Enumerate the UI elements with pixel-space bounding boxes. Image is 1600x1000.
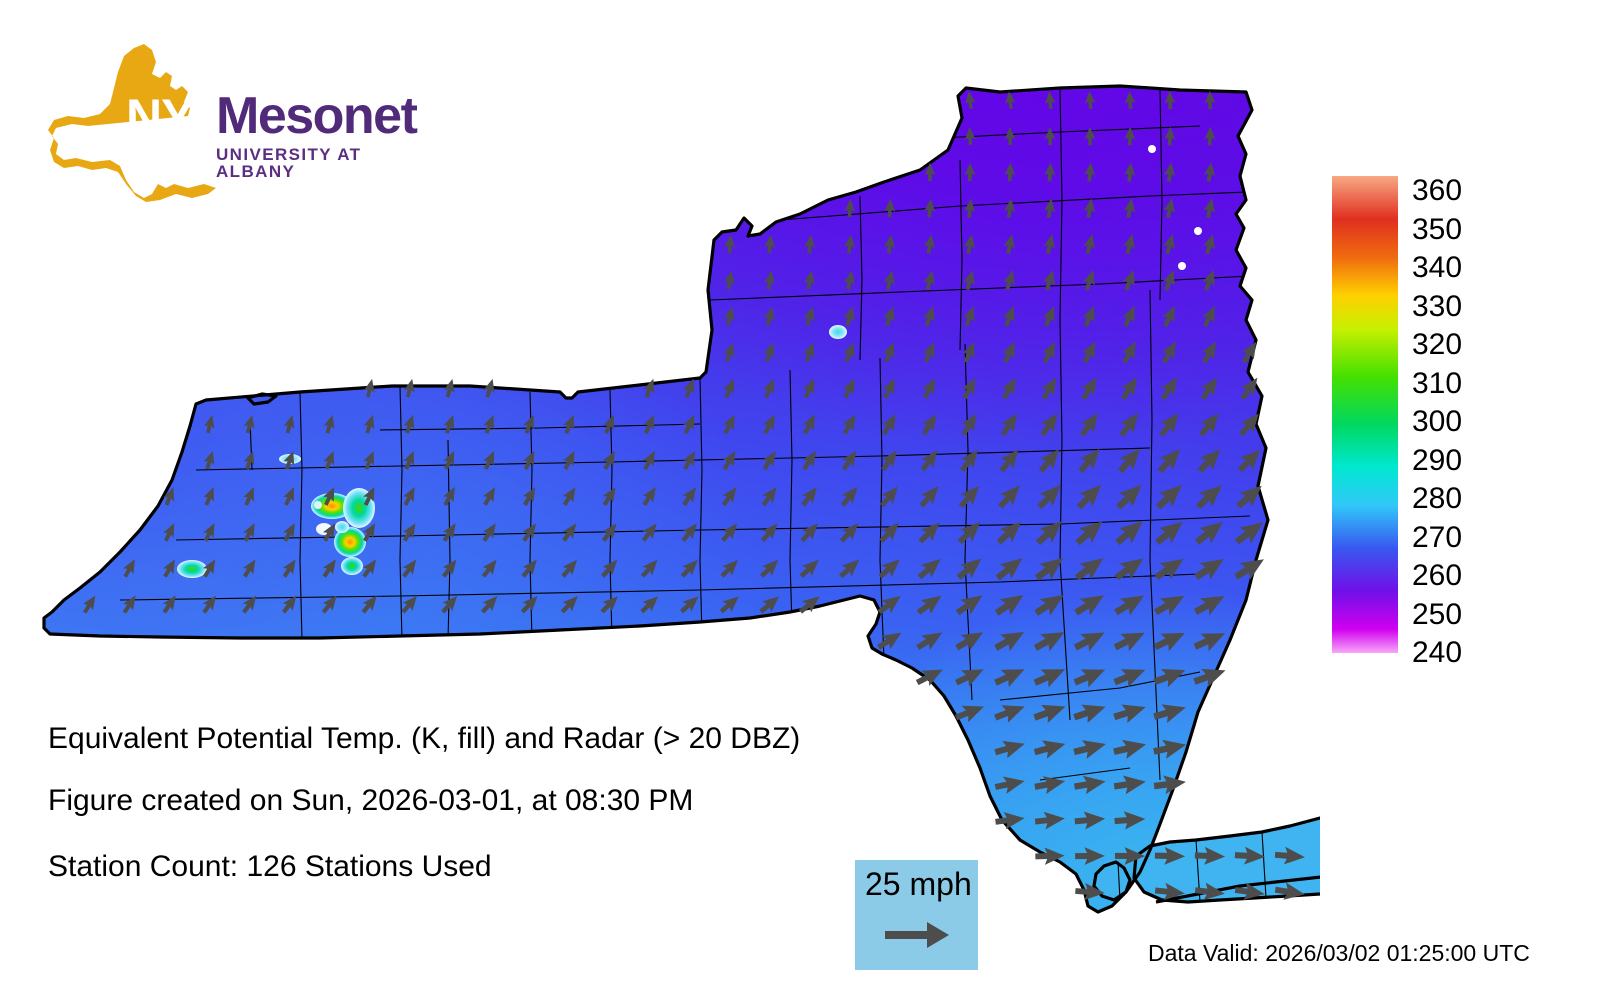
colorbar-tick-360: 360	[1412, 176, 1462, 206]
colorbar-tick-310: 310	[1412, 369, 1462, 399]
map-title: Equivalent Potential Temp. (K, fill) and…	[48, 724, 800, 754]
colorbar-tick-290: 290	[1412, 446, 1462, 476]
figure-created-text: Figure created on Sun, 2026-03-01, at 08…	[48, 786, 693, 816]
colorbar-tick-300: 300	[1412, 407, 1462, 437]
data-valid-text: Data Valid: 2026/03/02 01:25:00 UTC	[1148, 942, 1530, 965]
colorbar-tick-330: 330	[1412, 292, 1462, 322]
colorbar-tick-250: 250	[1412, 600, 1462, 630]
colorbar-tick-270: 270	[1412, 523, 1462, 553]
colorbar-tick-260: 260	[1412, 561, 1462, 591]
logo-nys-text: NYS	[126, 92, 226, 142]
wind-arrow-icon	[883, 918, 953, 952]
colorbar-tick-labels: 360350340330320310300290280270260250240	[1412, 168, 1532, 668]
station-count-text: Station Count: 126 Stations Used	[48, 852, 492, 882]
colorbar-gradient	[1332, 176, 1398, 653]
colorbar-tick-240: 240	[1412, 638, 1462, 668]
logo-mesonet-text: Mesonet	[216, 90, 416, 142]
colorbar-tick-320: 320	[1412, 330, 1462, 360]
wind-scale-label: 25 mph	[865, 868, 972, 900]
logo-university-text: UNIVERSITY AT ALBANY	[216, 146, 398, 180]
colorbar-tick-340: 340	[1412, 253, 1462, 283]
colorbar-tick-350: 350	[1412, 215, 1462, 245]
wind-scale-legend: 25 mph	[855, 860, 978, 970]
colorbar-tick-280: 280	[1412, 484, 1462, 514]
nys-mesonet-logo: NYS Mesonet UNIVERSITY AT ALBANY	[48, 42, 398, 202]
